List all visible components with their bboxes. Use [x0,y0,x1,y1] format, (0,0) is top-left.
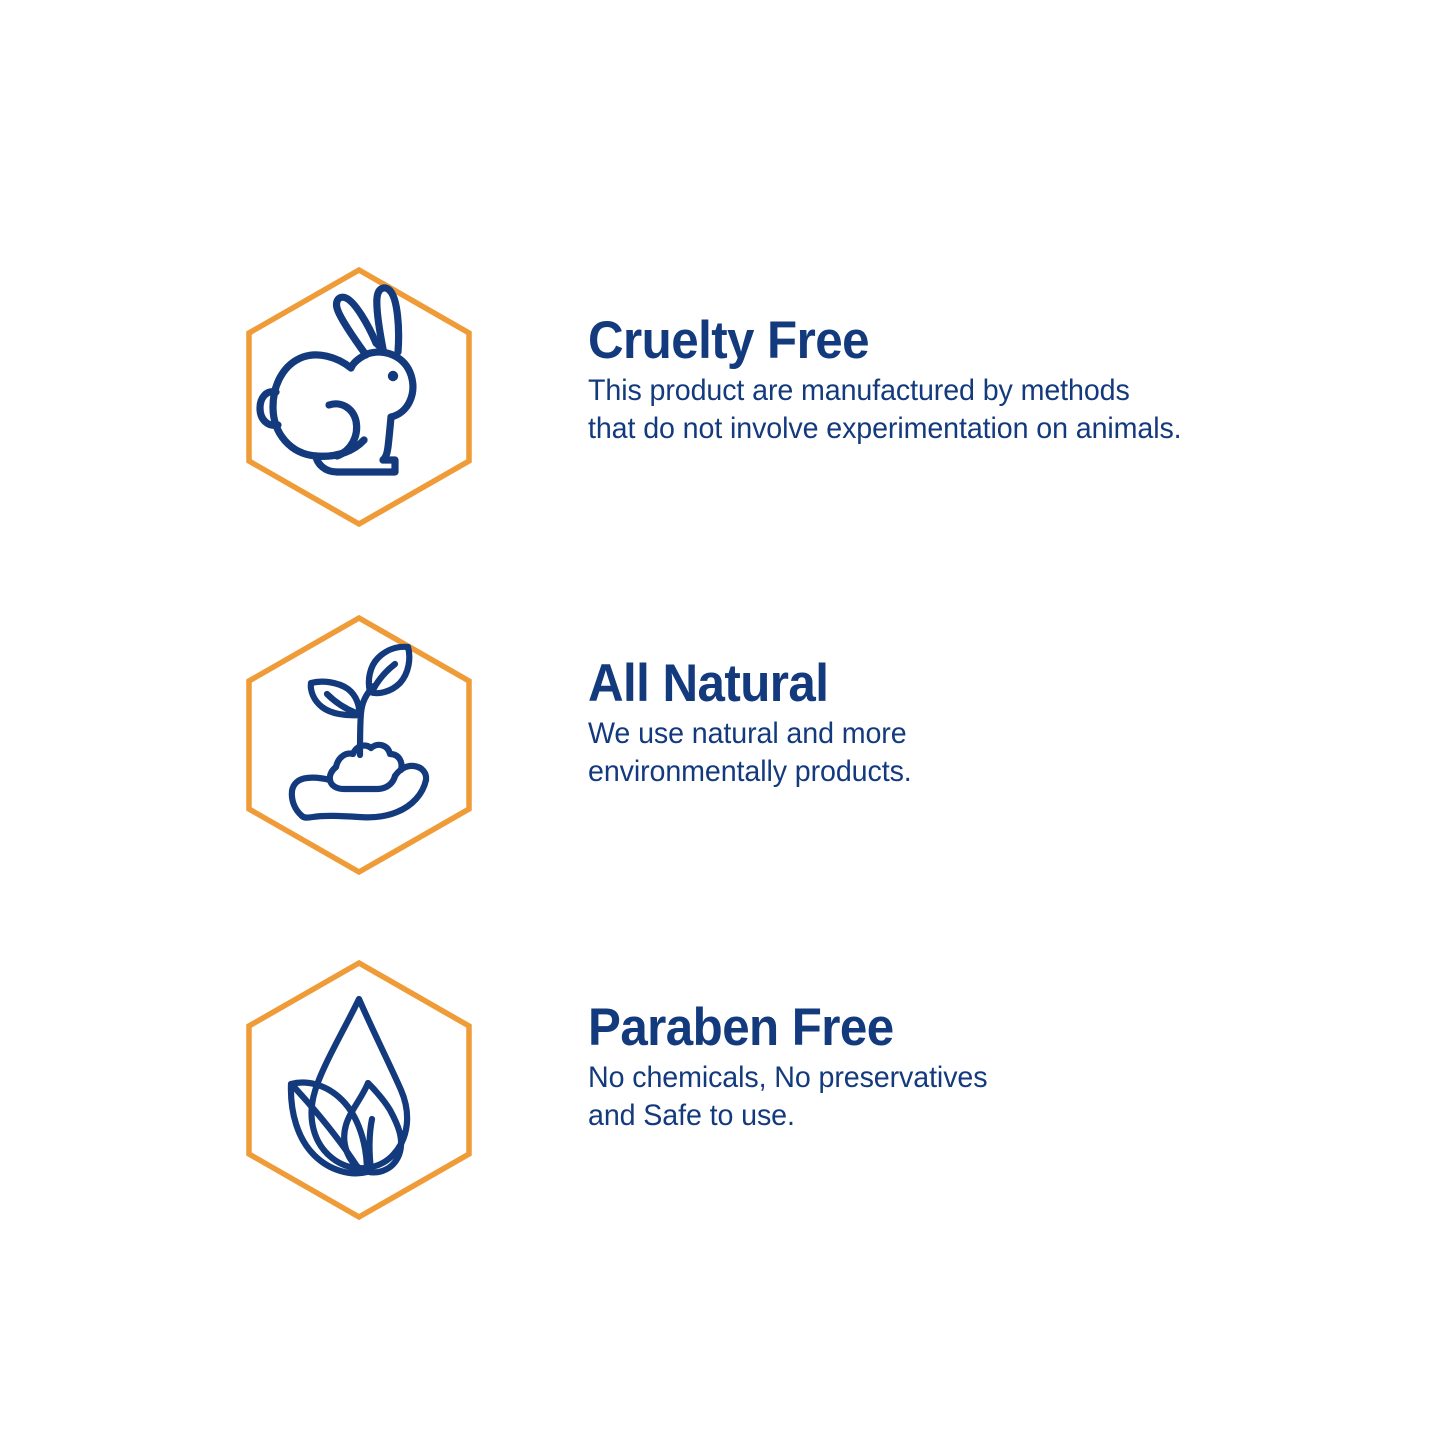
feature-item-all-natural: All Natural We use natural and more envi… [0,612,1445,912]
feature-copy-cruelty-free: Cruelty Free This product are manufactur… [588,312,1348,448]
feature-item-cruelty-free: Cruelty Free This product are manufactur… [0,264,1445,564]
feature-description: This product are manufactured by methods… [588,372,1325,448]
feature-title: Paraben Free [588,999,1295,1057]
feature-copy-paraben-free: Paraben Free No chemicals, No preservati… [588,999,1348,1135]
feature-badges-graphic: Cruelty Free This product are manufactur… [0,0,1445,1445]
feature-title: Cruelty Free [588,312,1295,370]
hexagon-badge-cruelty-free [243,264,475,530]
water-drop-leaf-icon [291,999,407,1173]
feature-description: No chemicals, No preservatives and Safe … [588,1059,1325,1135]
feature-copy-all-natural: All Natural We use natural and more envi… [588,655,1348,791]
hexagon-badge-all-natural [243,612,475,878]
rabbit-eye-icon [388,371,398,381]
feature-description: We use natural and more environmentally … [588,715,1325,791]
sprout-in-hand-icon [292,647,426,818]
hexagon-badge-paraben-free [243,957,475,1223]
feature-item-paraben-free: Paraben Free No chemicals, No preservati… [0,957,1445,1257]
feature-title: All Natural [588,655,1295,713]
